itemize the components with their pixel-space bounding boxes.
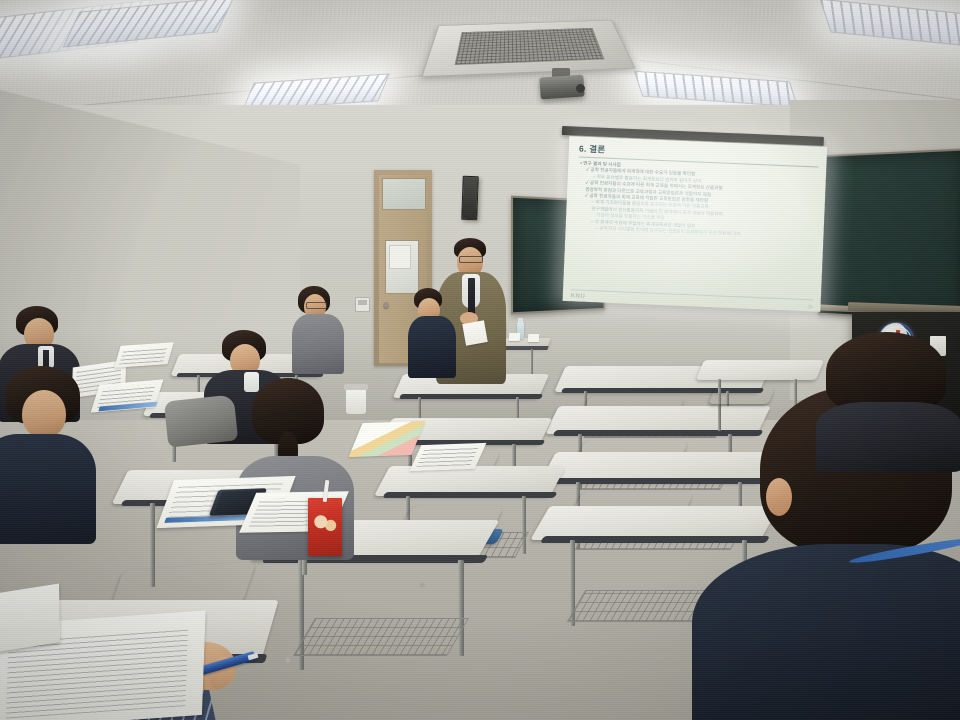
desk-edge bbox=[548, 478, 767, 484]
assistant-torso bbox=[408, 316, 456, 378]
attendee-suit bbox=[0, 434, 96, 544]
classroom-chair[interactable] bbox=[708, 386, 775, 404]
desk-top bbox=[696, 360, 824, 380]
chalkboard-right bbox=[818, 148, 960, 321]
presenter-handout bbox=[462, 320, 487, 345]
presenter-glasses-icon bbox=[459, 256, 483, 263]
juice-carton[interactable] bbox=[308, 498, 342, 556]
coffee-cup[interactable] bbox=[346, 388, 366, 414]
handout-paper[interactable] bbox=[114, 342, 174, 368]
classroom-photo: 6. 결론 • 연구 결과 및 시사점 ✓ 공학 전공자들에게 회계학에 대한 … bbox=[0, 0, 960, 720]
thermostat-display bbox=[358, 300, 367, 305]
desk-leg bbox=[150, 503, 155, 587]
desk-leg bbox=[458, 560, 464, 656]
attendee-ear bbox=[766, 478, 792, 516]
desk-top bbox=[530, 506, 780, 540]
door-notice bbox=[389, 245, 411, 269]
attendee-jacket bbox=[692, 544, 960, 720]
attendee-top bbox=[816, 402, 960, 472]
name-card bbox=[528, 334, 540, 342]
attendee-shirt bbox=[244, 372, 259, 392]
ac-grille bbox=[455, 28, 605, 65]
cup-lid bbox=[344, 384, 368, 390]
attendee-hair bbox=[826, 332, 946, 412]
desk-leg bbox=[522, 496, 526, 554]
handout-text bbox=[119, 346, 167, 364]
wall-thermostat[interactable] bbox=[355, 297, 370, 312]
ceiling-ac-unit bbox=[421, 20, 635, 77]
desk-basket bbox=[293, 618, 469, 656]
bottle-cap bbox=[518, 318, 523, 323]
projector-lens bbox=[576, 84, 585, 93]
name-card bbox=[509, 333, 521, 341]
table-leg bbox=[531, 349, 533, 375]
door-transom-glass bbox=[382, 178, 426, 210]
door-knob[interactable] bbox=[383, 302, 389, 308]
handout-text bbox=[416, 447, 478, 467]
attendee-head bbox=[22, 390, 66, 438]
slide-page-number: 28 bbox=[807, 304, 812, 309]
woman-jacket bbox=[292, 314, 344, 374]
woman-glasses-icon bbox=[306, 302, 327, 309]
shoulder-bag[interactable] bbox=[164, 394, 238, 447]
knu-logo: KNU bbox=[571, 293, 586, 300]
wall-speaker bbox=[461, 176, 479, 221]
slide-content: 6. 결론 • 연구 결과 및 시사점 ✓ 공학 전공자들에게 회계학에 대한 … bbox=[563, 136, 828, 312]
juice-label bbox=[311, 511, 338, 535]
handout-paper[interactable] bbox=[410, 443, 487, 471]
projection-screen[interactable]: 6. 결론 • 연구 결과 및 시사점 ✓ 공학 전공자들에게 회계학에 대한 … bbox=[563, 136, 828, 312]
